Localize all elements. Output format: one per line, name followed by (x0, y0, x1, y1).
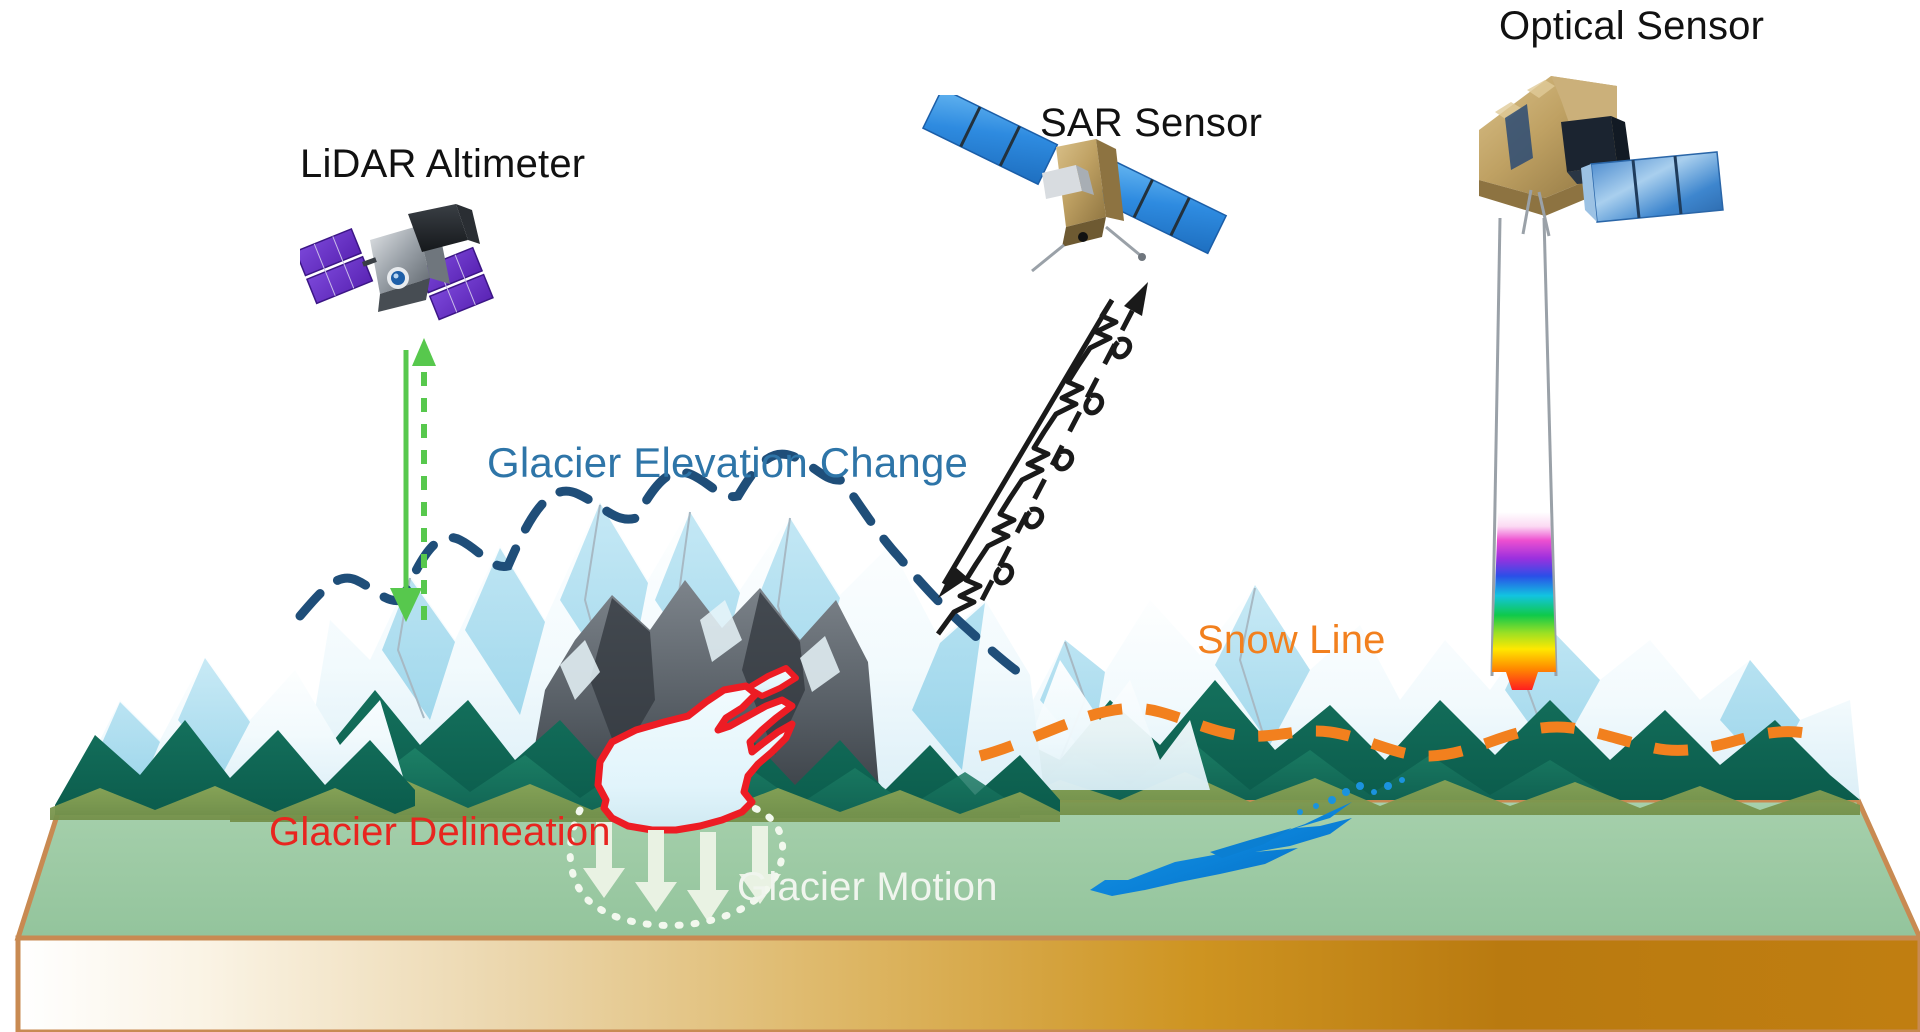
sar-solar-panel-upper-left (923, 95, 1057, 184)
lidar-telescope-aperture (387, 267, 409, 289)
label-glacier-motion: Glacier Motion (737, 867, 998, 907)
sar-beam (938, 282, 1148, 634)
optical-solar-panel (1581, 152, 1723, 222)
satellite-optical-sensor[interactable] (1465, 60, 1730, 240)
label-glacier-delineation: Glacier Delineation (269, 812, 611, 852)
optical-beam-spectrum (1492, 512, 1556, 690)
label-sar-sensor: SAR Sensor (1040, 103, 1262, 143)
optical-beam (1492, 218, 1556, 690)
label-snow-line: Snow Line (1197, 620, 1386, 660)
label-optical-sensor: Optical Sensor (1499, 6, 1764, 46)
lidar-solar-panel-left (300, 229, 372, 303)
label-glacier-elevation-change: Glacier Elevation Change (487, 442, 968, 484)
diagram-canvas: LiDAR Altimeter SAR Sensor Optical Senso… (0, 0, 1920, 1032)
base-side-face (18, 938, 1920, 1032)
sar-aperture-dot (1078, 232, 1088, 242)
satellite-lidar-altimeter[interactable] (300, 200, 515, 350)
label-lidar-altimeter: LiDAR Altimeter (300, 144, 585, 184)
sar-beam-down-shaft (944, 300, 1112, 584)
lidar-antenna-boom (362, 257, 377, 266)
